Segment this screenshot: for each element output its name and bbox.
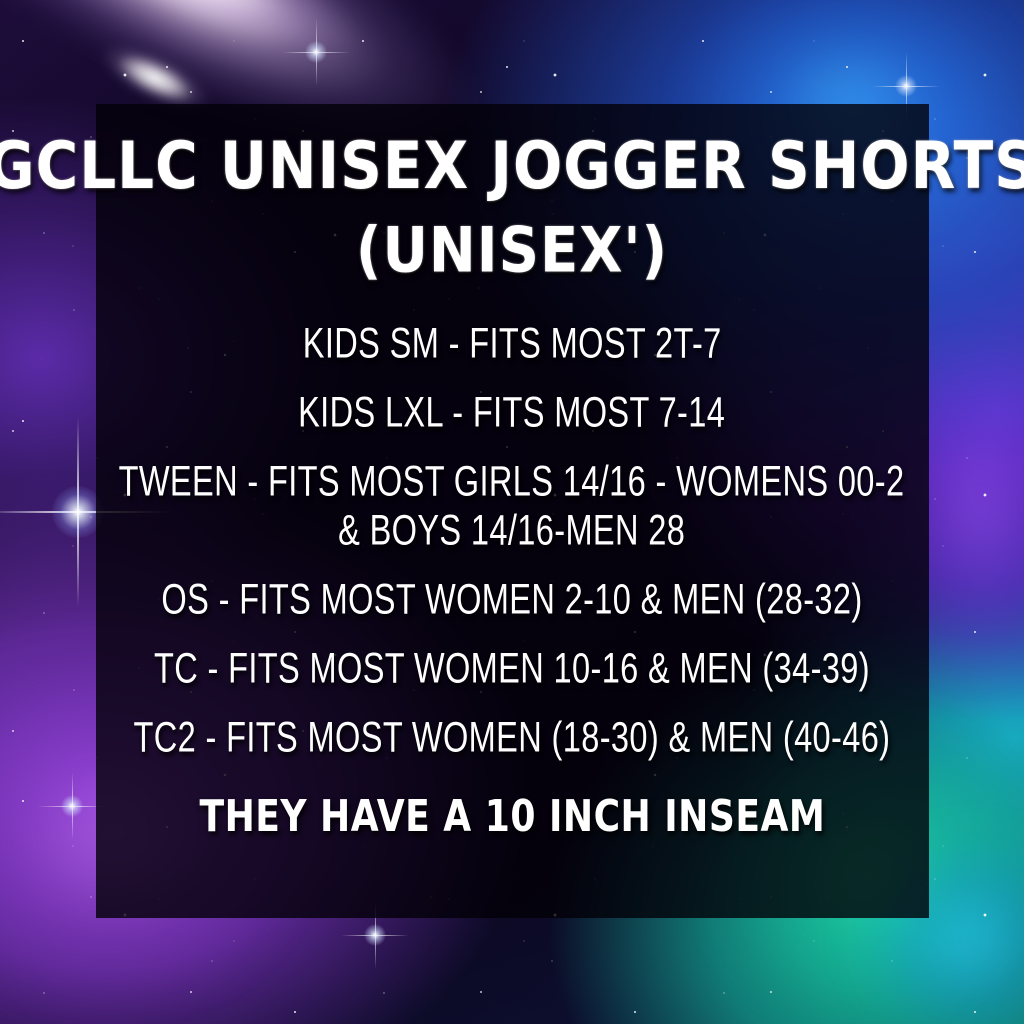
- size-line-os: OS - FITS MOST WOMEN 2-10 & MEN (28-32): [161, 578, 862, 621]
- size-line-kids-sm: KIDS SM - FITS MOST 2T-7: [303, 322, 722, 365]
- size-line-kids-lxl: KIDS LXL - FITS MOST 7-14: [298, 391, 725, 434]
- size-line-tween: TWEEN - FITS MOST GIRLS 14/16 - WOMENS 0…: [119, 460, 905, 503]
- size-line-tc2: TC2 - FITS MOST WOMEN (18-30) & MEN (40-…: [134, 716, 891, 759]
- inseam-note: THEY HAVE A 10 INCH INSEAM: [199, 794, 825, 838]
- size-line-tc: TC - FITS MOST WOMEN 10-16 & MEN (34-39): [154, 647, 870, 690]
- galaxy-size-chart-graphic: GCLLC UNISEX JOGGER SHORTS (UNISEX') KID…: [0, 0, 1024, 1024]
- graphic-title-line-1: GCLLC UNISEX JOGGER SHORTS: [0, 132, 1024, 200]
- graphic-title-line-2: (UNISEX'): [356, 219, 668, 285]
- size-chart-text-block: GCLLC UNISEX JOGGER SHORTS (UNISEX') KID…: [0, 104, 1024, 918]
- size-line-tween-boys: & BOYS 14/16-MEN 28: [338, 509, 685, 552]
